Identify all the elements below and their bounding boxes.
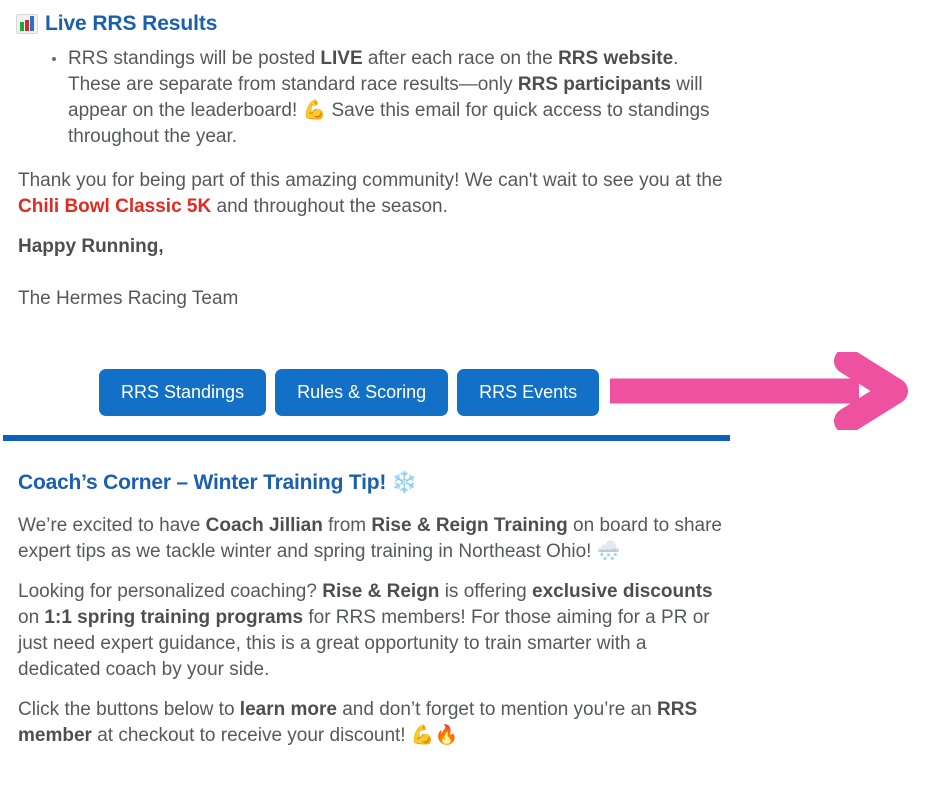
team-line: The Hermes Racing Team xyxy=(0,286,724,312)
bar-chart-icon xyxy=(16,14,38,34)
rrs-events-button[interactable]: RRS Events xyxy=(457,369,599,416)
rules-scoring-button[interactable]: Rules & Scoring xyxy=(275,369,448,416)
coach-paragraph-3-text: Click the buttons below to learn more an… xyxy=(18,699,697,746)
pink-arrow-annotation-icon xyxy=(604,352,914,430)
signoff-line: Happy Running, xyxy=(0,234,724,260)
list-item: RRS standings will be posted LIVE after … xyxy=(68,46,713,150)
coach-paragraph-1-text: We’re excited to have Coach Jillian from… xyxy=(18,515,722,562)
section-divider xyxy=(3,435,730,441)
coach-corner-heading-text: Coach’s Corner – Winter Training Tip! xyxy=(18,471,386,495)
coach-corner-section: Coach’s Corner – Winter Training Tip! ❄️… xyxy=(0,470,940,749)
coach-paragraph-3: Click the buttons below to learn more an… xyxy=(0,697,724,749)
coach-corner-heading: Coach’s Corner – Winter Training Tip! ❄️ xyxy=(0,470,940,495)
coach-paragraph-2-text: Looking for personalized coaching? Rise … xyxy=(18,581,713,680)
coach-paragraph-2: Looking for personalized coaching? Rise … xyxy=(0,579,724,683)
live-rrs-results-heading: Live RRS Results xyxy=(0,0,940,36)
live-rrs-results-list: RRS standings will be posted LIVE after … xyxy=(0,46,940,150)
closing-thanks-paragraph: Thank you for being part of this amazing… xyxy=(0,168,724,220)
list-item-text: RRS standings will be posted LIVE after … xyxy=(68,48,710,147)
email-body: Live RRS Results RRS standings will be p… xyxy=(0,0,940,788)
team-name: The Hermes Racing Team xyxy=(18,288,238,309)
signoff-text: Happy Running, xyxy=(18,236,164,257)
coach-paragraph-1: We’re excited to have Coach Jillian from… xyxy=(0,513,724,565)
cta-button-row: RRS Standings Rules & Scoring RRS Events xyxy=(99,369,599,416)
rrs-standings-button[interactable]: RRS Standings xyxy=(99,369,266,416)
live-rrs-results-heading-text: Live RRS Results xyxy=(45,12,217,36)
closing-thanks-text: Thank you for being part of this amazing… xyxy=(18,170,723,217)
snowflake-icon: ❄️ xyxy=(391,470,417,495)
